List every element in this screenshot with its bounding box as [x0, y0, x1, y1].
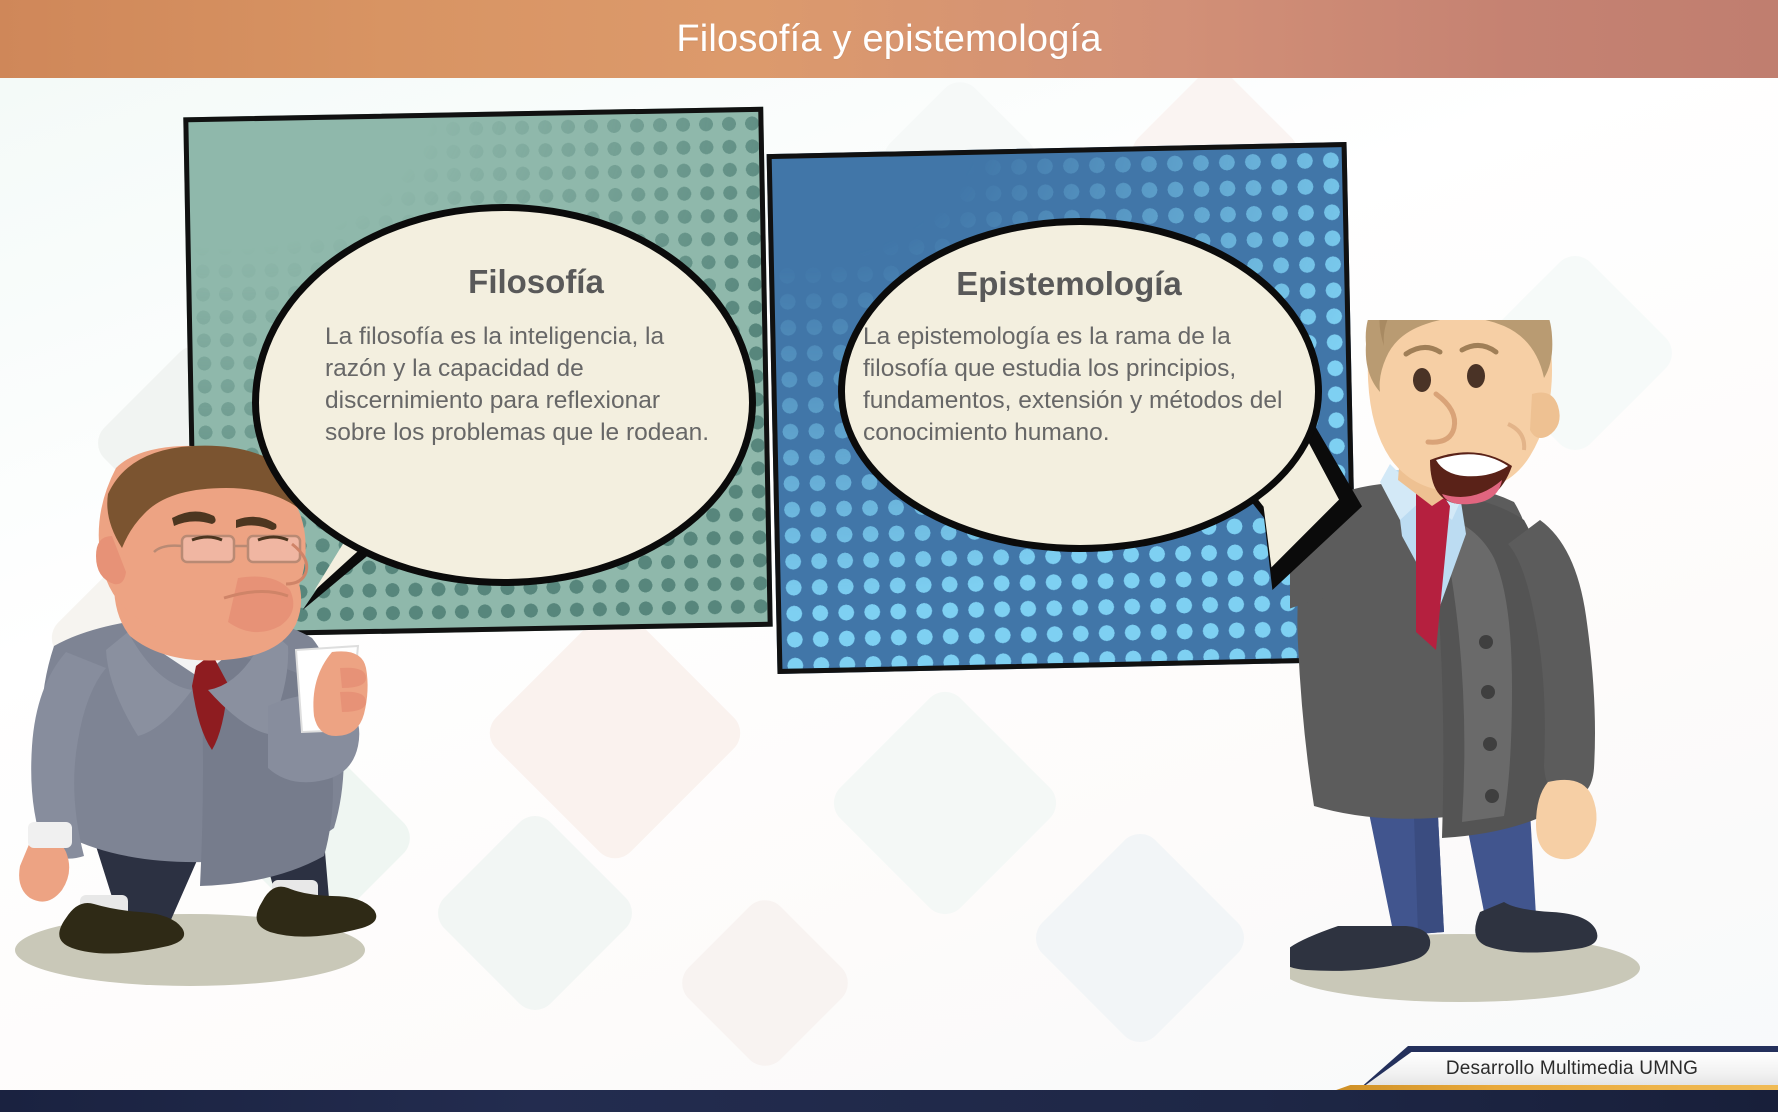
- shoe-right: [1475, 902, 1597, 953]
- slide-canvas: Filosofía y epistemología: [0, 0, 1778, 1112]
- credit-text: Desarrollo Multimedia UMNG: [1388, 1058, 1698, 1080]
- credit-banner: Desarrollo Multimedia UMNG: [1278, 1046, 1778, 1090]
- fist: [19, 840, 69, 902]
- character-presenting-man: [1290, 320, 1778, 1020]
- coat-button: [1481, 685, 1495, 699]
- bubble-body-epistemology: La epistemología es la rama de la filoso…: [863, 321, 1283, 448]
- credit-plate: Desarrollo Multimedia UMNG: [1308, 1052, 1778, 1086]
- ear: [1530, 393, 1560, 439]
- watermark-diamond: [673, 891, 857, 1075]
- hand-right: [1536, 780, 1597, 859]
- speech-bubble-epistemology: Epistemología La epistemología es la ram…: [838, 218, 1322, 552]
- eye: [1413, 368, 1431, 392]
- watermark-diamond: [1027, 825, 1253, 1051]
- coat-button: [1479, 635, 1493, 649]
- page-title: Filosofía y epistemología: [676, 18, 1101, 61]
- coat-button: [1485, 789, 1499, 803]
- eye: [1467, 364, 1485, 388]
- slide-header: Filosofía y epistemología: [0, 0, 1778, 78]
- coat-button: [1483, 737, 1497, 751]
- bubble-body-philosophy: La filosofía es la inteligencia, la razó…: [325, 321, 715, 448]
- watermark-diamond: [825, 683, 1065, 923]
- bubble-heading-epistemology: Epistemología: [845, 265, 1315, 303]
- speech-bubble-philosophy: Filosofía La filosofía es la inteligenci…: [252, 204, 756, 586]
- footer-bar: [0, 1090, 1778, 1112]
- bubble-heading-philosophy: Filosofía: [259, 263, 749, 301]
